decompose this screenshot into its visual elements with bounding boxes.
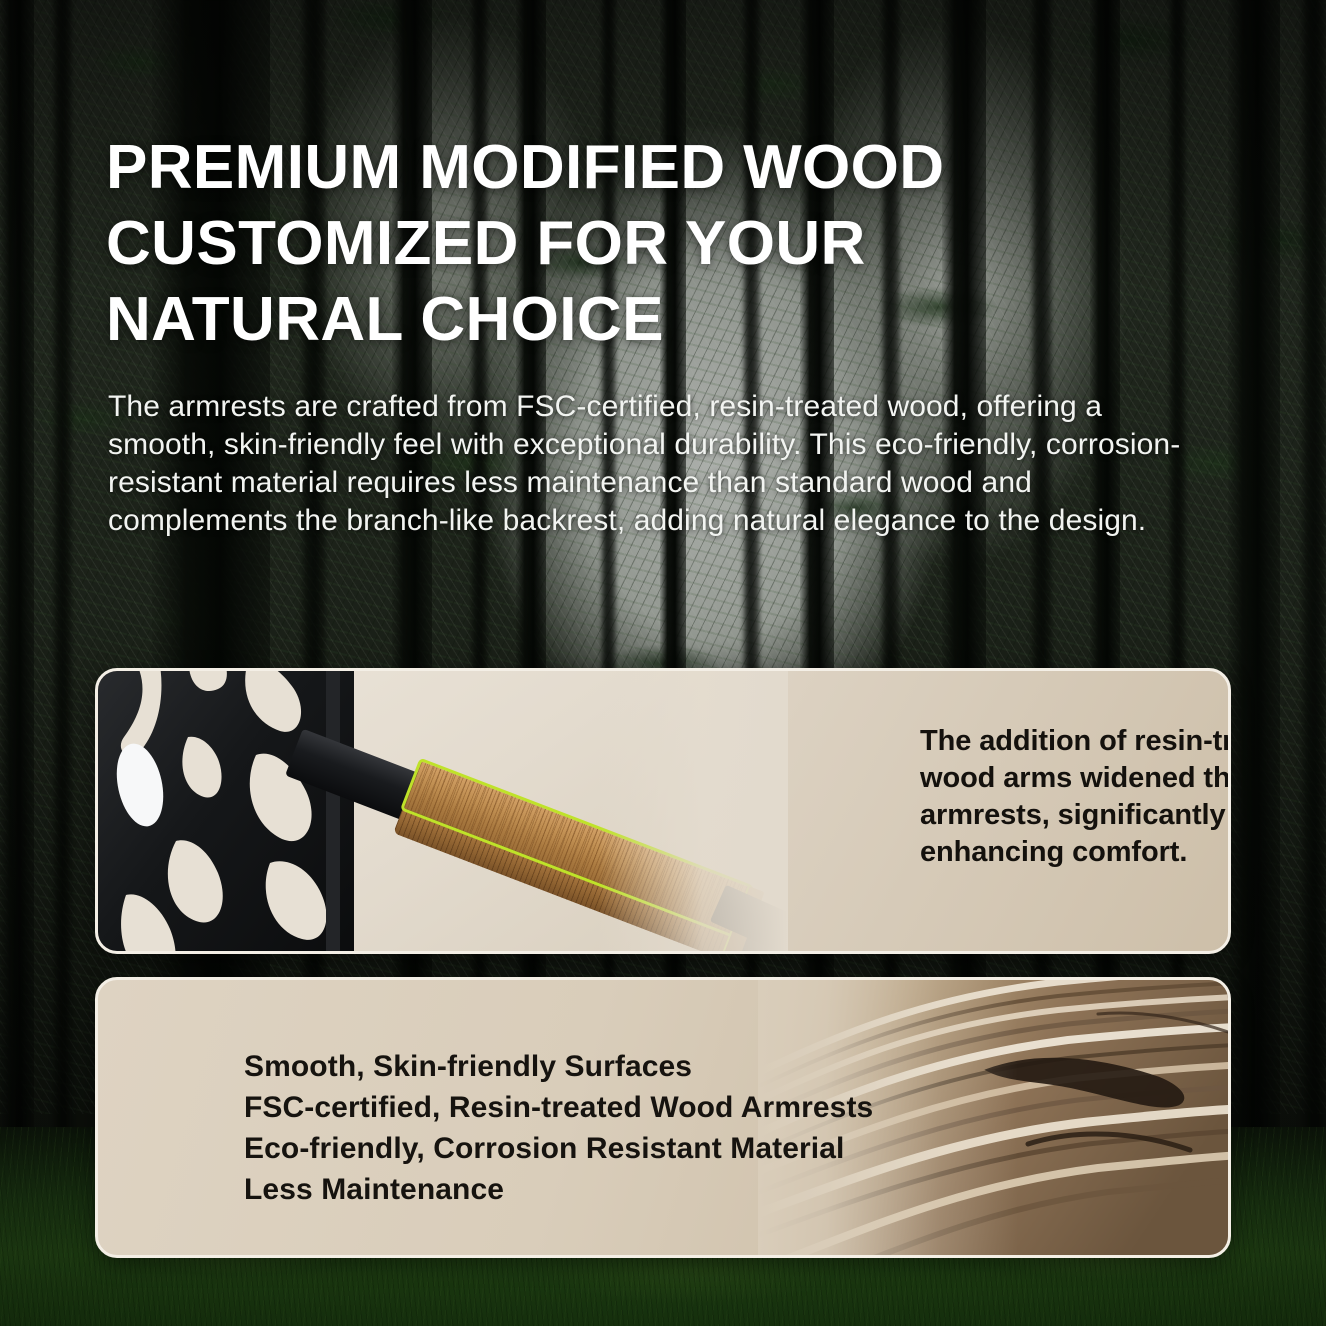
feature-item: FSC-certified, Resin-treated Wood Armres…	[244, 1087, 873, 1128]
features-card: Smooth, Skin-friendly Surfaces FSC-certi…	[95, 977, 1231, 1258]
product-feature-poster: PREMIUM MODIFIED WOOD CUSTOMIZED FOR YOU…	[0, 0, 1326, 1326]
feature-item: Eco-friendly, Corrosion Resistant Materi…	[244, 1128, 873, 1169]
feature-item: Smooth, Skin-friendly Surfaces	[244, 1046, 873, 1087]
feature-list: Smooth, Skin-friendly Surfaces FSC-certi…	[244, 1046, 873, 1210]
feature-item: Less Maintenance	[244, 1169, 873, 1210]
branch-backrest-graphic	[98, 671, 370, 951]
photo-fade-overlay	[598, 671, 788, 951]
page-title: PREMIUM MODIFIED WOOD CUSTOMIZED FOR YOU…	[106, 130, 1066, 358]
armrest-product-photo	[98, 671, 788, 951]
branch-backrest-icon	[98, 671, 370, 951]
body-description: The armrests are crafted from FSC-certif…	[108, 388, 1183, 540]
armrest-feature-card: The addition of resin-treated wood arms …	[95, 668, 1231, 954]
armrest-caption-text: The addition of resin-treated wood arms …	[920, 723, 1231, 871]
